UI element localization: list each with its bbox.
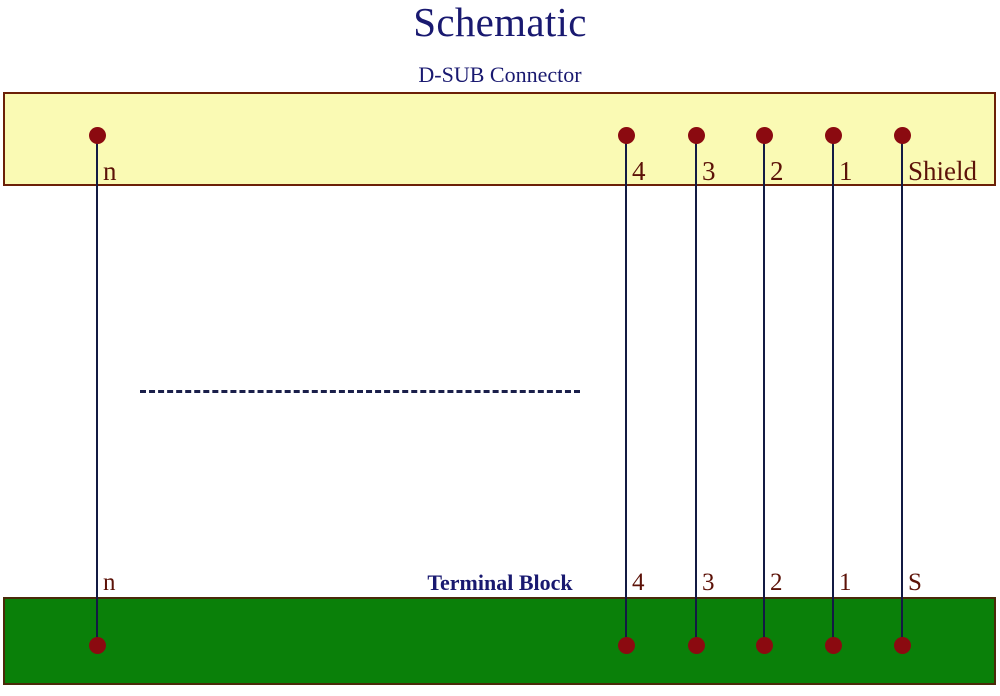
connector-title: D-SUB Connector (0, 62, 1000, 88)
connector-node-dot-1 (825, 127, 842, 144)
connector-pin-label-2: 2 (770, 158, 784, 185)
wire-5 (901, 135, 903, 645)
connector-node-dot-shield (894, 127, 911, 144)
connector-pin-label-shield: Shield (908, 158, 977, 185)
connector-node-dot-4 (618, 127, 635, 144)
wire-2 (695, 135, 697, 645)
connector-node-dot-2 (756, 127, 773, 144)
connector-node-dot-3 (688, 127, 705, 144)
page-title: Schematic (0, 0, 1000, 46)
terminal-node-dot-s (894, 637, 911, 654)
terminal-node-dot-2 (756, 637, 773, 654)
connector-node-dot-n (89, 127, 106, 144)
wire-3 (763, 135, 765, 645)
terminal-block-title: Terminal Block (0, 570, 1000, 596)
connector-pin-label-3: 3 (702, 158, 716, 185)
schematic-canvas: Schematic D-SUB Connector n4321Shield n4… (0, 0, 1000, 696)
wire-4 (832, 135, 834, 645)
terminal-node-dot-1 (825, 637, 842, 654)
terminal-node-dot-n (89, 637, 106, 654)
wire-1 (625, 135, 627, 645)
wire-0 (96, 135, 98, 645)
terminal-node-dot-4 (618, 637, 635, 654)
terminal-node-dot-3 (688, 637, 705, 654)
continuation-dashed-line (140, 390, 580, 393)
connector-pin-label-1: 1 (839, 158, 853, 185)
connector-pin-label-n: n (103, 158, 117, 185)
terminal-block-body (3, 597, 996, 685)
connector-pin-label-4: 4 (632, 158, 646, 185)
